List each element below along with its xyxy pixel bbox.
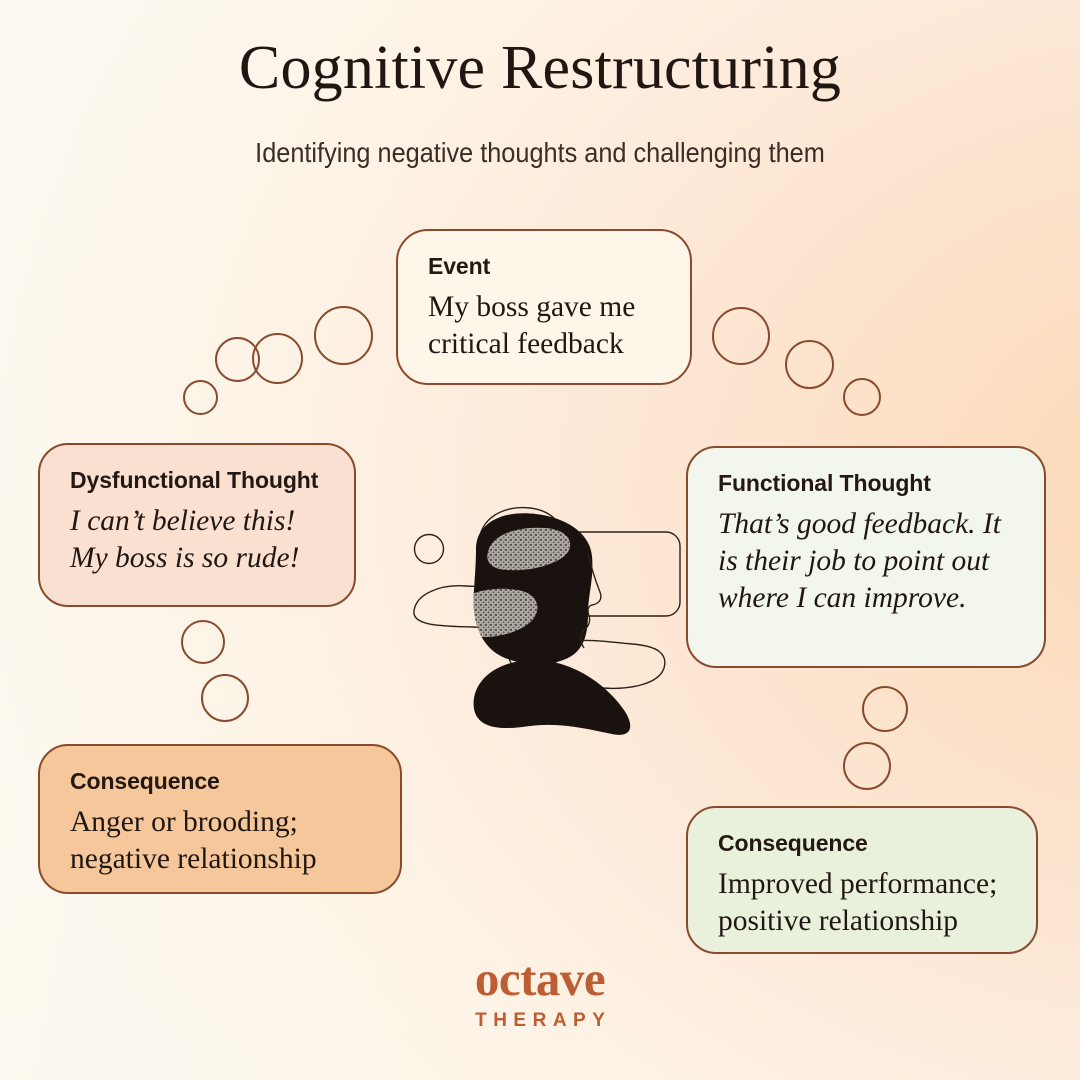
card-dysfunctional-thought: Dysfunctional Thought I can’t believe th… (38, 443, 356, 607)
abstract-profile-face-illustration (400, 494, 692, 750)
bubble-dot (314, 306, 373, 365)
card-functional-thought-label: Functional Thought (718, 470, 1018, 496)
brand-logo-wordmark: octave (0, 954, 1080, 1003)
bubble-dot (862, 686, 908, 732)
card-functional-thought: Functional Thought That’s good feedback.… (686, 446, 1046, 668)
brand-logo-subtitle: THERAPY (0, 1011, 1080, 1030)
card-consequence-positive-label: Consequence (718, 830, 1010, 856)
card-consequence-negative-body: Anger or brooding; negative relationship (70, 804, 374, 877)
head-silhouette (456, 513, 592, 664)
bubble-dot (183, 380, 218, 415)
bubble-dot (181, 620, 225, 664)
bubble-dot (712, 307, 770, 365)
page-title: Cognitive Restructuring (0, 36, 1080, 102)
card-event-body: My boss gave me critical feedback (428, 289, 664, 362)
card-consequence-negative: Consequence Anger or brooding; negative … (38, 744, 402, 894)
bubble-dot (785, 340, 834, 389)
hair-shoulder-shape (474, 660, 631, 735)
card-consequence-positive-body: Improved performance; positive relations… (718, 866, 1010, 939)
card-event: Event My boss gave me critical feedback (396, 229, 692, 385)
infographic-canvas: Cognitive Restructuring Identifying nega… (0, 0, 1080, 1080)
bubble-dot (252, 333, 303, 384)
card-consequence-positive: Consequence Improved performance; positi… (686, 806, 1038, 954)
brand-logo: octave THERAPY (0, 954, 1080, 1030)
card-dysfunctional-thought-body: I can’t believe this! My boss is so rude… (70, 503, 328, 576)
bubble-dot (843, 378, 881, 416)
bubble-dot (843, 742, 891, 790)
page-subtitle: Identifying negative thoughts and challe… (43, 136, 1037, 169)
bubble-dot (201, 674, 249, 722)
card-consequence-negative-label: Consequence (70, 768, 374, 794)
card-event-label: Event (428, 253, 664, 279)
card-functional-thought-body: That’s good feedback. It is their job to… (718, 506, 1018, 616)
outline-circle-small (415, 535, 444, 564)
card-dysfunctional-thought-label: Dysfunctional Thought (70, 467, 328, 493)
